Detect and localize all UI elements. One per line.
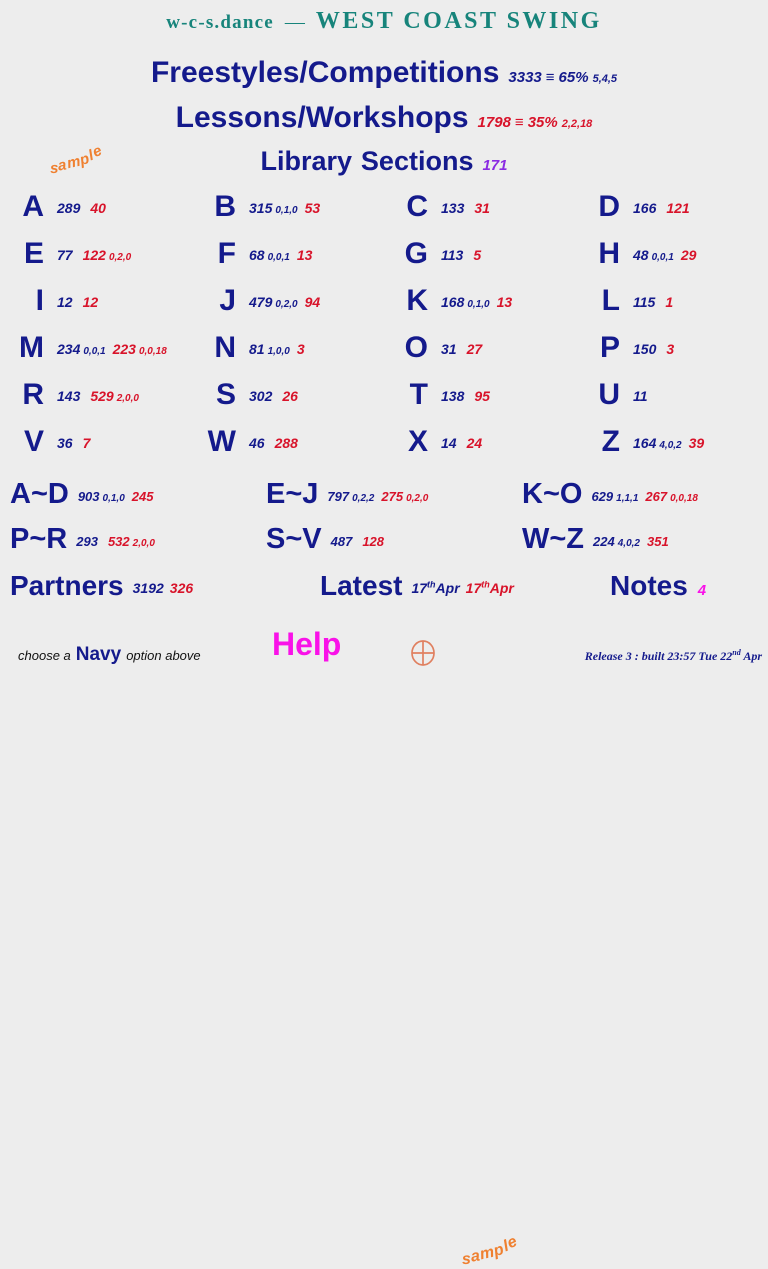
site-header: w-c-s.dance — WEST COAST SWING	[0, 8, 768, 35]
range-label-wz[interactable]: W~Z	[512, 523, 584, 556]
navy-triple: 0,2,2	[352, 493, 374, 504]
latest-link[interactable]: Latest	[320, 570, 402, 602]
lessons-workshops-row: Lessons/Workshops1798≡35%2,2,18	[0, 101, 768, 135]
letter-label-w[interactable]: W	[192, 425, 236, 459]
range-row: P~R2935322,0,0 S~V487128 W~Z2244,0,2351	[0, 523, 768, 568]
range-cell-ej[interactable]: E~J7970,2,22750,2,0	[256, 478, 512, 511]
letter-cell-m[interactable]: M2340,0,12230,0,18	[0, 331, 192, 365]
letter-cell-i[interactable]: I1212	[0, 284, 192, 318]
red-count: 121	[666, 200, 689, 216]
navy-triple: 4,0,2	[618, 538, 640, 549]
range-cell-pr[interactable]: P~R2935322,0,0	[0, 523, 256, 556]
choose-hint-pre: choose a	[18, 648, 71, 663]
red-count: 29	[681, 247, 697, 263]
red-count: 12	[83, 294, 99, 310]
navy-triple: 1,0,0	[268, 346, 290, 357]
letter-label-v[interactable]: V	[0, 425, 44, 459]
letter-values-l: 1151	[620, 294, 678, 310]
lessons-link[interactable]: Lessons	[176, 101, 298, 134]
navy-count: 168	[441, 294, 464, 310]
range-label-pr[interactable]: P~R	[0, 523, 67, 556]
letter-label-e[interactable]: E	[0, 237, 44, 271]
release-ordinal: nd	[732, 648, 740, 657]
range-values-sv: 487128	[322, 534, 389, 549]
navy-count: 12	[57, 294, 73, 310]
red-count: 40	[90, 200, 106, 216]
navy-count: 36	[57, 435, 73, 451]
release-text: Release 3 : built 23:57 Tue 22	[585, 649, 733, 663]
letter-values-m: 2340,0,12230,0,18	[44, 341, 169, 357]
notes-count: 4	[698, 582, 706, 599]
freestyles-slash: /	[299, 56, 307, 89]
letter-cell-n[interactable]: N811,0,03	[192, 331, 384, 365]
letter-cell-h[interactable]: H480,0,129	[576, 237, 768, 271]
red-count: 223	[113, 341, 136, 357]
letter-cell-x[interactable]: X1424	[384, 425, 576, 459]
red-count: 39	[689, 435, 705, 451]
choose-hint: choose aNavyoption above	[18, 644, 201, 666]
latest-red-day: 17	[466, 580, 482, 596]
choose-hint-keyword: Navy	[71, 644, 126, 665]
red-count: 288	[275, 435, 298, 451]
letter-values-c: 13331	[428, 200, 495, 216]
navy-triple: 0,1,0	[103, 493, 125, 504]
red-triple: 2,0,0	[133, 538, 155, 549]
lessons-stats: 1798≡35%2,2,18	[478, 114, 593, 131]
letter-cell-s[interactable]: S30226	[192, 378, 384, 412]
navy-count: 113	[441, 247, 463, 263]
letter-label-j[interactable]: J	[192, 284, 236, 318]
partners-link[interactable]: Partners	[10, 570, 124, 602]
range-label-ej[interactable]: E~J	[256, 478, 318, 511]
red-triple: 0,2,0	[109, 252, 131, 263]
letter-values-i: 1212	[44, 294, 103, 310]
red-count: 275	[381, 489, 403, 504]
site-name[interactable]: w-c-s.dance	[166, 12, 274, 33]
letter-label-o[interactable]: O	[384, 331, 428, 365]
notes-link[interactable]: Notes	[610, 570, 688, 602]
navy-count: 48	[633, 247, 649, 263]
letter-label-f[interactable]: F	[192, 237, 236, 271]
letter-grid-row: E771220,2,0 F680,0,113 G1135 H480,0,129	[0, 237, 768, 284]
sample-watermark-top: sample	[50, 152, 102, 169]
letter-label-t[interactable]: T	[384, 378, 428, 412]
letter-values-d: 166121	[620, 200, 695, 216]
range-label-sv[interactable]: S~V	[256, 523, 322, 556]
letter-cell-p[interactable]: P1503	[576, 331, 768, 365]
navy-triple: 0,1,0	[467, 299, 489, 310]
footer: choose aNavyoption above Help sample Rel…	[0, 618, 768, 668]
red-triple: 0,2,0	[406, 493, 428, 504]
letter-label-d[interactable]: D	[576, 190, 620, 224]
letter-cell-z[interactable]: Z1644,0,239	[576, 425, 768, 459]
red-count: 53	[305, 200, 321, 216]
letter-values-g: 1135	[428, 247, 486, 263]
letter-values-z: 1644,0,239	[620, 435, 709, 451]
navy-count: 224	[593, 534, 615, 549]
freestyles-triple: 5,4,5	[593, 73, 617, 85]
navy-triple: 4,0,2	[659, 440, 681, 451]
latest-navy-date: 17thApr	[411, 580, 459, 596]
range-values-pr: 2935322,0,0	[67, 534, 157, 549]
latest-cell[interactable]: Latest 17thApr17thApr	[320, 570, 610, 614]
red-count: 529	[90, 388, 113, 404]
latest-navy-ordinal: th	[427, 579, 436, 589]
letter-label-h[interactable]: H	[576, 237, 620, 271]
letter-values-v: 367	[44, 435, 95, 451]
red-count: 7	[83, 435, 91, 451]
navy-triple: 0,1,0	[275, 205, 297, 216]
navy-count: 629	[591, 489, 613, 504]
release-info: Release 3 : built 23:57 Tue 22nd Apr	[585, 648, 762, 664]
letter-cell-g[interactable]: G1135	[384, 237, 576, 271]
latest-values: 17thApr17thApr	[402, 579, 513, 596]
freestyles-stats: 3333≡65%5,4,5	[508, 69, 617, 86]
letter-range-groups: A~D9030,1,0245 E~J7970,2,22750,2,0 K~O62…	[0, 478, 768, 568]
red-count: 27	[467, 341, 483, 357]
letter-values-j: 4790,2,094	[236, 294, 325, 310]
notes-cell[interactable]: Notes 4	[610, 570, 706, 614]
letter-label-z[interactable]: Z	[576, 425, 620, 459]
red-triple: 0,0,18	[670, 493, 698, 504]
sample-watermark-bottom: sample	[462, 1243, 517, 1261]
letter-cell-t[interactable]: T13895	[384, 378, 576, 412]
partners-navy-count: 3192	[133, 580, 164, 596]
navy-count: 115	[633, 294, 655, 310]
red-count: 3	[666, 341, 674, 357]
navy-count: 14	[441, 435, 457, 451]
summary-row: Partners 3192326 Latest 17thApr17thApr N…	[0, 570, 768, 614]
red-count: 13	[497, 294, 513, 310]
red-count: 3	[297, 341, 305, 357]
circle-plus-icon[interactable]	[410, 640, 436, 666]
letter-values-w: 46288	[236, 435, 303, 451]
red-count: 128	[362, 534, 384, 549]
letter-label-s[interactable]: S	[192, 378, 236, 412]
freestyles-link[interactable]: Freestyles	[151, 56, 299, 89]
release-month: Apr	[743, 649, 762, 663]
letter-cell-c[interactable]: C13331	[384, 190, 576, 224]
red-count: 351	[647, 534, 669, 549]
range-label-ad[interactable]: A~D	[0, 478, 69, 511]
letter-cell-b[interactable]: B3150,1,053	[192, 190, 384, 224]
latest-red-date: 17thApr	[466, 580, 514, 596]
letter-values-e: 771220,2,0	[44, 247, 133, 263]
navy-count: 166	[633, 200, 656, 216]
partners-cell[interactable]: Partners 3192326	[0, 570, 320, 614]
navy-count: 315	[249, 200, 272, 216]
letter-label-n[interactable]: N	[192, 331, 236, 365]
lessons-percent: 35%	[528, 114, 558, 131]
navy-triple: 0,0,1	[652, 252, 674, 263]
navy-count: 289	[57, 200, 80, 216]
letter-label-k[interactable]: K	[384, 284, 428, 318]
lessons-slash: /	[297, 101, 305, 134]
competitions-link[interactable]: Competitions	[308, 56, 500, 89]
letter-values-k: 1680,1,013	[428, 294, 517, 310]
navy-count: 81	[249, 341, 265, 357]
navy-count: 797	[327, 489, 349, 504]
letter-values-o: 3127	[428, 341, 487, 357]
red-triple: 2,0,0	[117, 393, 139, 404]
navy-count: 487	[331, 534, 353, 549]
letter-label-c[interactable]: C	[384, 190, 428, 224]
letter-values-f: 680,0,113	[236, 247, 317, 263]
letter-cell-u[interactable]: U11	[576, 378, 768, 412]
navy-count: 138	[441, 388, 464, 404]
red-count: 13	[297, 247, 313, 263]
latest-red-month: Apr	[490, 580, 514, 596]
red-count: 94	[305, 294, 321, 310]
red-count: 532	[108, 534, 130, 549]
navy-count: 479	[249, 294, 272, 310]
red-triple: 0,0,18	[139, 346, 167, 357]
letter-label-r[interactable]: R	[0, 378, 44, 412]
library-link[interactable]: Library	[260, 146, 352, 176]
letter-label-l[interactable]: L	[576, 284, 620, 318]
letter-cell-a[interactable]: A28940	[0, 190, 192, 224]
latest-navy-day: 17	[411, 580, 427, 596]
letter-values-x: 1424	[428, 435, 487, 451]
range-cell-sv[interactable]: S~V487128	[256, 523, 512, 556]
letter-values-p: 1503	[620, 341, 679, 357]
page-root: w-c-s.dance — WEST COAST SWING Freestyle…	[0, 0, 768, 668]
letter-cell-o[interactable]: O3127	[384, 331, 576, 365]
navy-count: 302	[249, 388, 272, 404]
letter-cell-j[interactable]: J4790,2,094	[192, 284, 384, 318]
letter-grid-row: R1435292,0,0 S30226 T13895 U11	[0, 378, 768, 425]
letter-grid-row: M2340,0,12230,0,18 N811,0,03 O3127 P1503	[0, 331, 768, 378]
letter-grid-row: A28940 B3150,1,053 C13331 D166121	[0, 190, 768, 237]
letter-label-a[interactable]: A	[0, 190, 44, 224]
letter-cell-r[interactable]: R1435292,0,0	[0, 378, 192, 412]
latest-red-ordinal: th	[481, 579, 490, 589]
navy-count: 77	[57, 247, 73, 263]
letter-cell-w[interactable]: W46288	[192, 425, 384, 459]
library-sections-row: Library Sections171	[0, 146, 768, 177]
identical-to-icon: ≡	[542, 69, 559, 86]
letter-cell-k[interactable]: K1680,1,013	[384, 284, 576, 318]
site-subtitle: WEST COAST SWING	[316, 8, 602, 34]
navy-count: 293	[76, 534, 98, 549]
range-cell-ad[interactable]: A~D9030,1,0245	[0, 478, 256, 511]
letter-label-x[interactable]: X	[384, 425, 428, 459]
navy-count: 164	[633, 435, 656, 451]
workshops-link[interactable]: Workshops	[306, 101, 469, 134]
range-label-ko[interactable]: K~O	[512, 478, 582, 511]
letter-values-s: 30226	[236, 388, 303, 404]
red-count: 245	[132, 489, 154, 504]
red-count: 1	[665, 294, 673, 310]
letter-label-g[interactable]: G	[384, 237, 428, 271]
lessons-count: 1798	[478, 114, 511, 131]
freestyles-percent: 65%	[559, 69, 589, 86]
latest-navy-month: Apr	[436, 580, 460, 596]
letter-label-i[interactable]: I	[0, 284, 44, 318]
help-link[interactable]: Help	[272, 626, 341, 663]
navy-count: 31	[441, 341, 457, 357]
navy-count: 133	[441, 200, 464, 216]
letter-cell-e[interactable]: E771220,2,0	[0, 237, 192, 271]
navy-count: 46	[249, 435, 265, 451]
sections-link[interactable]: Sections	[361, 146, 474, 176]
letter-values-u: 11	[620, 388, 663, 404]
letter-cell-d[interactable]: D166121	[576, 190, 768, 224]
library-letter-grid: A28940 B3150,1,053 C13331 D166121 E77122…	[0, 190, 768, 472]
red-count: 267	[645, 489, 667, 504]
letter-label-p[interactable]: P	[576, 331, 620, 365]
navy-triple: 0,0,1	[268, 252, 290, 263]
choose-hint-post: option above	[126, 648, 200, 663]
navy-triple: 0,2,0	[275, 299, 297, 310]
red-count: 24	[467, 435, 483, 451]
partners-red-count: 326	[170, 580, 193, 596]
letter-cell-l[interactable]: L1151	[576, 284, 768, 318]
letter-grid-row: V367 W46288 X1424 Z1644,0,239	[0, 425, 768, 472]
letter-values-b: 3150,1,053	[236, 200, 325, 216]
partners-values: 3192326	[124, 580, 194, 596]
red-count: 31	[474, 200, 490, 216]
letter-label-b[interactable]: B	[192, 190, 236, 224]
navy-count: 11	[633, 388, 648, 404]
navy-count: 234	[57, 341, 80, 357]
range-values-ad: 9030,1,0245	[69, 489, 159, 504]
range-cell-ko[interactable]: K~O6291,1,12670,0,18	[512, 478, 768, 511]
identical-to-icon: ≡	[511, 114, 528, 131]
range-cell-wz[interactable]: W~Z2244,0,2351	[512, 523, 768, 556]
red-count: 26	[282, 388, 298, 404]
letter-label-u[interactable]: U	[576, 378, 620, 412]
range-values-wz: 2244,0,2351	[584, 534, 674, 549]
letter-values-r: 1435292,0,0	[44, 388, 141, 404]
letter-label-m[interactable]: M	[0, 331, 44, 365]
range-values-ej: 7970,2,22750,2,0	[318, 489, 430, 504]
letter-values-t: 13895	[428, 388, 495, 404]
freestyles-count: 3333	[508, 69, 541, 86]
letter-cell-v[interactable]: V367	[0, 425, 192, 459]
letter-values-h: 480,0,129	[620, 247, 701, 263]
library-count: 171	[482, 157, 507, 174]
freestyles-competitions-row: Freestyles/Competitions3333≡65%5,4,5	[0, 56, 768, 90]
navy-count: 150	[633, 341, 656, 357]
red-count: 95	[474, 388, 490, 404]
range-row: A~D9030,1,0245 E~J7970,2,22750,2,0 K~O62…	[0, 478, 768, 523]
navy-count: 68	[249, 247, 265, 263]
navy-triple: 1,1,1	[616, 493, 638, 504]
navy-triple: 0,0,1	[83, 346, 105, 357]
navy-count: 903	[78, 489, 100, 504]
lessons-triple: 2,2,18	[562, 118, 593, 130]
range-values-ko: 6291,1,12670,0,18	[582, 489, 699, 504]
letter-cell-f[interactable]: F680,0,113	[192, 237, 384, 271]
navy-count: 143	[57, 388, 80, 404]
red-count: 122	[83, 247, 106, 263]
site-dash: —	[278, 11, 312, 33]
letter-values-n: 811,0,03	[236, 341, 310, 357]
letter-values-a: 28940	[44, 200, 111, 216]
red-count: 5	[473, 247, 481, 263]
letter-grid-row: I1212 J4790,2,094 K1680,1,013 L1151	[0, 284, 768, 331]
